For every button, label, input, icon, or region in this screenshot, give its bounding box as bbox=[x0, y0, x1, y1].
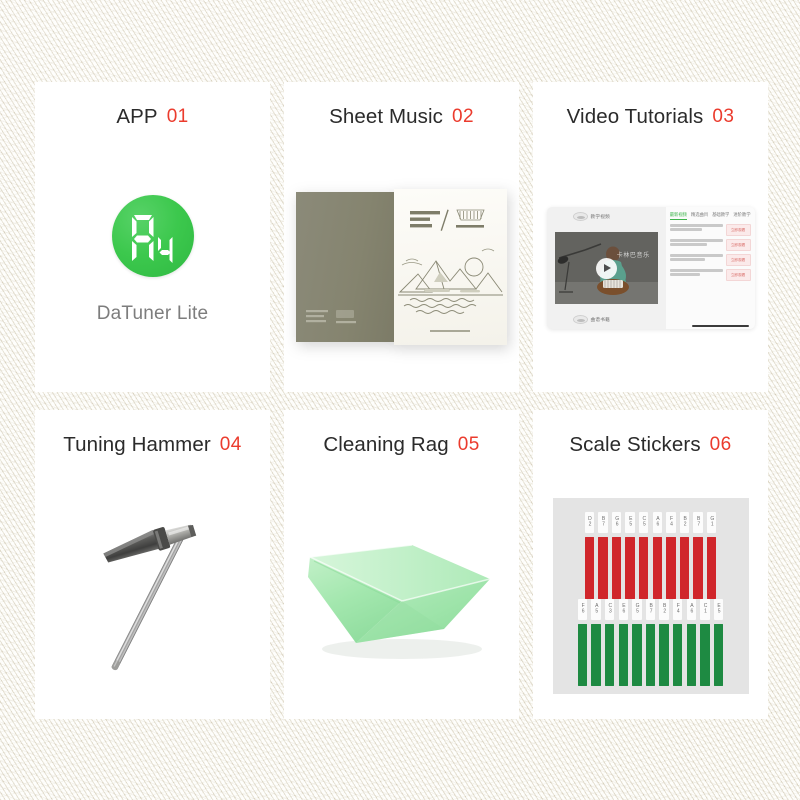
sticker-strip bbox=[646, 624, 656, 686]
playlist-item-text bbox=[670, 269, 723, 276]
text-line bbox=[670, 228, 703, 231]
card-cleaning-rag[interactable]: Cleaning Rag 05 bbox=[284, 410, 519, 719]
sticker-strip bbox=[578, 624, 588, 686]
sticker-note-label: F4 bbox=[675, 603, 680, 614]
sticker-strip bbox=[612, 537, 622, 599]
watch-now-tag[interactable]: 立即观看 bbox=[726, 269, 751, 281]
sticker-strip bbox=[653, 537, 663, 599]
playlist-item[interactable]: 立即观看 bbox=[670, 224, 751, 236]
card-sheet-music[interactable]: Sheet Music 02 bbox=[284, 82, 519, 392]
sticker-strip bbox=[639, 537, 649, 599]
watch-now-label: 立即观看 bbox=[731, 258, 745, 263]
sticker-strip bbox=[632, 624, 642, 686]
text-line bbox=[670, 254, 723, 257]
playlist-item-text bbox=[670, 254, 723, 261]
card-header: Tuning Hammer 04 bbox=[35, 410, 270, 472]
sticker-note-label: E6 bbox=[621, 603, 626, 614]
card-title: APP bbox=[116, 105, 157, 129]
sticker-label-chip: B7 bbox=[646, 599, 656, 620]
card-body bbox=[284, 144, 519, 392]
brand-bottom: 曲谱书籍 bbox=[551, 315, 662, 324]
sticker-label-chip: C3 bbox=[605, 599, 615, 620]
watch-now-label: 立即观看 bbox=[731, 243, 745, 248]
watch-now-tag[interactable]: 立即观看 bbox=[726, 254, 751, 266]
app-name: DaTuner Lite bbox=[97, 303, 209, 325]
card-title: Scale Stickers bbox=[569, 433, 700, 457]
sticker-note-label: C5 bbox=[641, 516, 646, 527]
sticker-label-chip: F4 bbox=[673, 599, 683, 620]
sticker-strip bbox=[687, 624, 697, 686]
sticker-strip bbox=[605, 624, 615, 686]
sticker-strip bbox=[680, 537, 690, 599]
video-player-column: 教学视频 bbox=[547, 207, 666, 329]
sticker-strip bbox=[693, 537, 703, 599]
card-header: APP 01 bbox=[35, 82, 270, 144]
green-label-row: F6A5C3E6G5B7B2F4A6C1E5 bbox=[578, 599, 723, 620]
sticker-label-chip: G6 bbox=[612, 512, 622, 533]
card-tuning-hammer[interactable]: Tuning Hammer 04 bbox=[35, 410, 270, 719]
sticker-note-label: E5 bbox=[716, 603, 721, 614]
sticker-strip bbox=[591, 624, 601, 686]
sticker-note-label: D2 bbox=[587, 516, 592, 527]
sticker-label-chip: E5 bbox=[714, 599, 724, 620]
brand-bottom-label: 曲谱书籍 bbox=[591, 317, 611, 323]
sticker-group-green: F6A5C3E6G5B7B2F4A6C1E5 bbox=[563, 599, 739, 686]
text-line bbox=[670, 224, 723, 227]
watch-now-label: 立即观看 bbox=[731, 228, 745, 233]
card-body: 教学视频 bbox=[533, 144, 768, 392]
sticker-strip bbox=[659, 624, 669, 686]
app-showcase: DaTuner Lite bbox=[97, 195, 209, 325]
card-body bbox=[35, 472, 270, 719]
card-number: 02 bbox=[452, 106, 474, 128]
sticker-strip bbox=[625, 537, 635, 599]
video-watermark: 卡林巴音乐 bbox=[617, 250, 650, 259]
card-body: DaTuner Lite bbox=[35, 144, 270, 392]
card-title: Video Tutorials bbox=[567, 105, 704, 129]
watch-now-tag[interactable]: 立即观看 bbox=[726, 239, 751, 251]
playlist-item-text bbox=[670, 224, 723, 231]
card-scale-stickers[interactable]: Scale Stickers 06 D2B7G6E5C5A6F4B2B7G1 F… bbox=[533, 410, 768, 719]
card-header: Video Tutorials 03 bbox=[533, 82, 768, 144]
watch-now-tag[interactable]: 立即观看 bbox=[726, 224, 751, 236]
tab-basics[interactable]: 基础教学 bbox=[712, 212, 729, 220]
sticker-strip bbox=[598, 537, 608, 599]
sticker-note-label: G5 bbox=[634, 603, 639, 614]
sticker-label-chip: E5 bbox=[625, 512, 635, 533]
card-body bbox=[284, 472, 519, 719]
video-playlist[interactable]: 最新视频 精选曲目 基础教学 进阶教学 立即观看 bbox=[666, 207, 755, 329]
card-title: Cleaning Rag bbox=[323, 433, 448, 457]
watch-now-label: 立即观看 bbox=[731, 273, 745, 278]
sticker-strip bbox=[666, 537, 676, 599]
songbook-front-cover bbox=[394, 189, 507, 345]
sticker-label-chip: A6 bbox=[687, 599, 697, 620]
tuning-hammer-photo bbox=[45, 491, 260, 701]
sticker-note-label: E5 bbox=[627, 516, 632, 527]
sticker-note-label: C1 bbox=[702, 603, 707, 614]
playlist-item[interactable]: 立即观看 bbox=[670, 254, 751, 266]
text-line bbox=[670, 258, 705, 261]
sticker-label-chip: B2 bbox=[680, 512, 690, 533]
tab-featured[interactable]: 精选曲目 bbox=[691, 212, 708, 220]
accessories-grid: APP 01 bbox=[35, 82, 767, 719]
video-player[interactable]: 卡林巴音乐 bbox=[555, 232, 658, 304]
playlist-item-text bbox=[670, 239, 723, 246]
horizontal-scrollbar[interactable] bbox=[692, 325, 748, 328]
sticker-note-label: A5 bbox=[594, 603, 599, 614]
video-tutorial-ui[interactable]: 教学视频 bbox=[547, 207, 755, 329]
sticker-strip bbox=[619, 624, 629, 686]
songbook-photo bbox=[294, 189, 509, 347]
card-title: Sheet Music bbox=[329, 105, 443, 129]
sticker-label-chip: E6 bbox=[619, 599, 629, 620]
sticker-note-label: G6 bbox=[614, 516, 619, 527]
card-header: Cleaning Rag 05 bbox=[284, 410, 519, 472]
sticker-strip bbox=[714, 624, 724, 686]
card-number: 03 bbox=[712, 106, 734, 128]
sticker-note-label: B7 bbox=[695, 516, 700, 527]
sticker-label-chip: D2 bbox=[585, 512, 595, 533]
card-number: 01 bbox=[167, 106, 189, 128]
card-header: Sheet Music 02 bbox=[284, 82, 519, 144]
text-line bbox=[670, 273, 701, 276]
playlist-item[interactable]: 立即观看 bbox=[670, 269, 751, 281]
sticker-note-label: A6 bbox=[689, 603, 694, 614]
sticker-label-chip: F4 bbox=[666, 512, 676, 533]
sticker-note-label: B2 bbox=[682, 516, 687, 527]
sticker-strip bbox=[707, 537, 717, 599]
sticker-strip bbox=[585, 537, 595, 599]
sticker-strip bbox=[673, 624, 683, 686]
datuner-app-icon[interactable] bbox=[112, 195, 194, 277]
sticker-note-label: F6 bbox=[580, 603, 585, 614]
playlist-tabs[interactable]: 最新视频 精选曲目 基础教学 进阶教学 bbox=[670, 212, 751, 221]
text-line bbox=[670, 243, 707, 246]
card-body: D2B7G6E5C5A6F4B2B7G1 F6A5C3E6G5B7B2F4A6C… bbox=[533, 472, 768, 719]
brand-top: 教学视频 bbox=[551, 212, 662, 221]
card-number: 04 bbox=[220, 434, 242, 456]
card-app[interactable]: APP 01 bbox=[35, 82, 270, 392]
card-number: 05 bbox=[458, 434, 480, 456]
sticker-strip bbox=[700, 624, 710, 686]
sticker-label-chip: G5 bbox=[632, 599, 642, 620]
sticker-label-chip: A5 bbox=[591, 599, 601, 620]
sticker-note-label: C3 bbox=[607, 603, 612, 614]
sticker-note-label: B7 bbox=[648, 603, 653, 614]
tab-latest[interactable]: 最新视频 bbox=[670, 212, 687, 220]
sticker-group-red: D2B7G6E5C5A6F4B2B7G1 bbox=[563, 512, 739, 599]
brand-top-label: 教学视频 bbox=[591, 214, 611, 220]
card-video-tutorials[interactable]: Video Tutorials 03 教学视频 bbox=[533, 82, 768, 392]
sticker-label-chip: B7 bbox=[598, 512, 608, 533]
sticker-note-label: B7 bbox=[600, 516, 605, 527]
sticker-label-chip: F6 bbox=[578, 599, 588, 620]
card-title: Tuning Hammer bbox=[63, 433, 211, 457]
sticker-label-chip: B2 bbox=[659, 599, 669, 620]
sticker-label-chip: C1 bbox=[700, 599, 710, 620]
red-label-row: D2B7G6E5C5A6F4B2B7G1 bbox=[585, 512, 717, 533]
text-line bbox=[670, 269, 723, 272]
playlist-item[interactable]: 立即观看 bbox=[670, 239, 751, 251]
kalimba-logo-icon bbox=[573, 315, 588, 324]
red-strip-row bbox=[585, 537, 717, 599]
text-line bbox=[670, 239, 723, 242]
card-header: Scale Stickers 06 bbox=[533, 410, 768, 472]
play-button[interactable] bbox=[596, 258, 617, 279]
sticker-label-chip: A6 bbox=[653, 512, 663, 533]
sticker-label-chip: B7 bbox=[693, 512, 703, 533]
sticker-label-chip: G1 bbox=[707, 512, 717, 533]
sticker-note-label: B2 bbox=[661, 603, 666, 614]
sticker-note-label: G1 bbox=[709, 516, 714, 527]
cleaning-cloth-photo bbox=[294, 523, 509, 673]
kalimba-logo-icon bbox=[573, 212, 588, 221]
sticker-note-label: F4 bbox=[668, 516, 673, 527]
sticker-label-chip: C5 bbox=[639, 512, 649, 533]
songbook-back-cover bbox=[296, 192, 394, 342]
scale-stickers-panel: D2B7G6E5C5A6F4B2B7G1 F6A5C3E6G5B7B2F4A6C… bbox=[553, 498, 749, 694]
card-number: 06 bbox=[710, 434, 732, 456]
sticker-note-label: A6 bbox=[655, 516, 660, 527]
tab-advanced[interactable]: 进阶教学 bbox=[733, 212, 750, 220]
green-strip-row bbox=[578, 624, 723, 686]
